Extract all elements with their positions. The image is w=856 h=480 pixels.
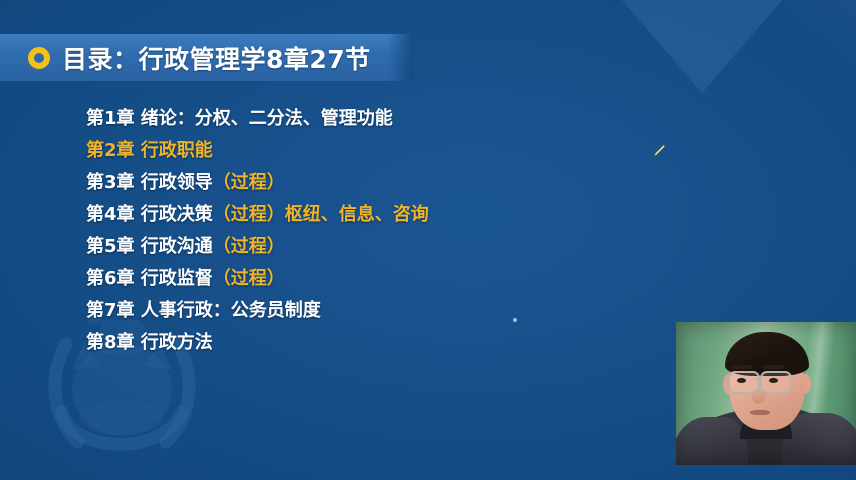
corner-light-decoration bbox=[700, 0, 856, 140]
chapter-3-highlight: （过程） bbox=[213, 172, 285, 193]
chapter-6-highlight: （过程） bbox=[213, 268, 285, 289]
toc-item-chapter-3[interactable]: 第3章 行政领导（过程） bbox=[86, 167, 646, 199]
chapter-5-highlight: （过程） bbox=[213, 236, 285, 257]
chapter-5-title: 第5章 行政沟通 bbox=[86, 236, 213, 257]
chapter-4-highlight: （过程）枢纽、信息、咨询 bbox=[213, 204, 429, 225]
webcam-vignette bbox=[676, 322, 856, 465]
toc-item-chapter-7[interactable]: 第7章 人事行政：公务员制度 bbox=[86, 295, 646, 327]
triangle-decoration-icon bbox=[620, 0, 784, 93]
chapter-4-title: 第4章 行政决策 bbox=[86, 204, 213, 225]
ring-bullet-icon bbox=[28, 47, 50, 69]
instructor-webcam[interactable] bbox=[676, 322, 856, 465]
table-of-contents: 第1章 绪论：分权、二分法、管理功能 第2章 行政职能 第3章 行政领导（过程）… bbox=[86, 103, 646, 359]
chapter-7-title: 第7章 人事行政：公务员制度 bbox=[86, 300, 321, 321]
toc-item-chapter-1[interactable]: 第1章 绪论：分权、二分法、管理功能 bbox=[86, 103, 646, 135]
presentation-slide: 目录：行政管理学8章27节 第1章 绪论：分权、二分法、管理功能 第2章 行政职… bbox=[0, 0, 856, 480]
toc-item-chapter-2[interactable]: 第2章 行政职能 bbox=[86, 135, 646, 167]
pen-cursor-icon bbox=[651, 143, 667, 159]
toc-item-chapter-6[interactable]: 第6章 行政监督（过程） bbox=[86, 263, 646, 295]
chapter-2-highlight: 第2章 行政职能 bbox=[86, 140, 213, 161]
chapter-1-title: 第1章 绪论：分权、二分法、管理功能 bbox=[86, 108, 393, 129]
toc-item-chapter-5[interactable]: 第5章 行政沟通（过程） bbox=[86, 231, 646, 263]
page-title: 目录：行政管理学8章27节 bbox=[62, 40, 371, 76]
chapter-8-title: 第8章 行政方法 bbox=[86, 332, 213, 353]
toc-item-chapter-4[interactable]: 第4章 行政决策（过程）枢纽、信息、咨询 bbox=[86, 199, 646, 231]
slide-title-bar: 目录：行政管理学8章27节 bbox=[0, 34, 412, 81]
webcam-video-frame bbox=[676, 322, 856, 465]
chapter-3-title: 第3章 行政领导 bbox=[86, 172, 213, 193]
toc-item-chapter-8[interactable]: 第8章 行政方法 bbox=[86, 327, 646, 359]
chapter-6-title: 第6章 行政监督 bbox=[86, 268, 213, 289]
